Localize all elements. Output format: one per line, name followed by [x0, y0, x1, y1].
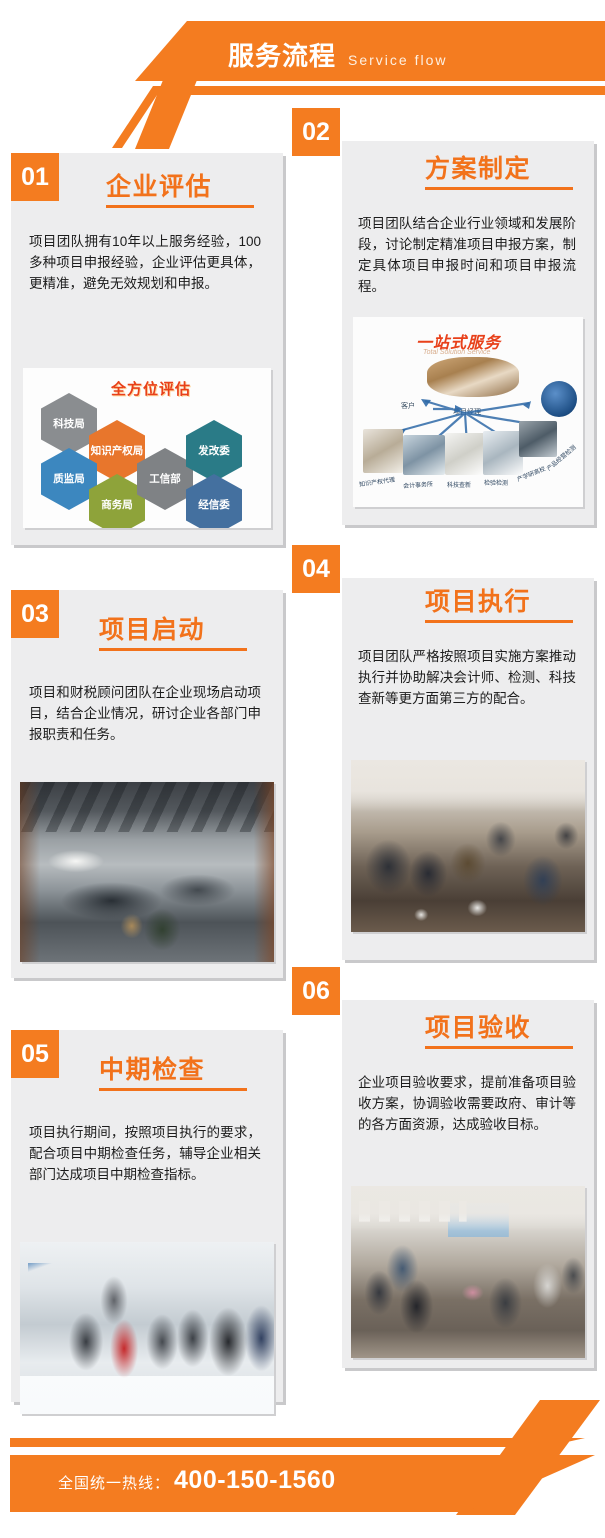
step-description: 项目执行期间，按照项目执行的要求，配合项目中期检查任务，辅导企业相关部门达成项目…: [29, 1122, 261, 1185]
step-title: 方案制定: [425, 149, 531, 185]
photo-showroom-visit: [20, 1242, 274, 1414]
header-stripe: [150, 86, 605, 95]
step-title: 项目启动: [99, 610, 205, 646]
step-title: 项目执行: [425, 582, 531, 618]
title-underline: [425, 620, 573, 623]
service-diagram: 一站式服务 Total Solution Service 客户 项目经理: [353, 317, 583, 507]
hex-node-gongxin: 工信部: [137, 448, 193, 510]
step-card-04: 04 项目执行 项目团队严格按照项目实施方案推动执行并协助解决会计师、检测、科技…: [342, 578, 594, 960]
hotline-label: 全国统一热线：: [58, 1472, 170, 1493]
diagram-thumb-office: [403, 435, 445, 475]
hex-node-zhishi: 知识产权局: [89, 420, 145, 482]
step-description: 项目和财税顾问团队在企业现场启动项目，结合企业情况，研讨企业各部门申报职责和任务…: [29, 682, 261, 745]
hexagon-infographic: 全方位评估 科技局 知识产权局 质监局 商务局 工信部 发改委 经信委: [23, 368, 271, 528]
step-card-02: 02 方案制定 项目团队结合企业行业领域和发展阶段，讨论制定精准项目申报方案，制…: [342, 141, 594, 525]
hex-node-keji: 科技局: [41, 393, 97, 455]
diagram-thumb-lab: [483, 431, 523, 475]
step-card-05: 05 中期检查 项目执行期间，按照项目执行的要求，配合项目中期检查任务，辅导企业…: [11, 1030, 283, 1402]
diagram-thumb-docs: [445, 433, 485, 475]
title-underline: [425, 1046, 573, 1049]
step-card-06: 06 项目验收 企业项目验收要求，提前准备项目验收方案，协调验收需要政府、审计等…: [342, 1000, 594, 1368]
hex-node-jingxin: 经信委: [186, 474, 242, 528]
photo-meeting-room: [20, 782, 274, 962]
diagram-thumb-meeting: [519, 421, 557, 457]
step-title: 项目验收: [425, 1008, 531, 1044]
header-title-group: 服务流程 Service flow: [228, 36, 447, 73]
step-number-badge: 03: [11, 590, 59, 638]
diagram-label-tech-search: 科技查新: [447, 480, 471, 489]
step-description: 项目团队拥有10年以上服务经验，100多种项目申报经验，企业评估更具体，更精准，…: [29, 231, 261, 294]
page-title: 服务流程: [228, 36, 336, 73]
photo-conference-laptops: [351, 760, 585, 932]
diagram-seal-icon: [541, 381, 577, 417]
hex-node-zhijian: 质监局: [41, 448, 97, 510]
step-title: 中期检查: [99, 1050, 205, 1086]
service-flow-infographic: 服务流程 Service flow 01 企业评估 项目团队拥有10年以上服务经…: [0, 0, 605, 1538]
step-card-01: 01 企业评估 项目团队拥有10年以上服务经验，100多种项目申报经验，企业评估…: [11, 153, 283, 545]
page-subtitle: Service flow: [348, 52, 447, 68]
step-number-badge: 05: [11, 1030, 59, 1078]
diagram-thumb-books: [363, 429, 403, 473]
step-number-badge: 02: [292, 108, 340, 156]
step-number-badge: 04: [292, 545, 340, 593]
hex-node-shangwu: 商务局: [89, 474, 145, 528]
title-underline: [425, 187, 573, 190]
step-title: 企业评估: [106, 167, 212, 203]
step-description: 企业项目验收要求，提前准备项目验收方案，协调验收需要政府、审计等的各方面资源，达…: [358, 1072, 576, 1135]
diagram-label-inspection: 检验检测: [484, 478, 508, 487]
hex-node-fagai: 发改委: [186, 420, 242, 482]
footer-hotline-group: 全国统一热线： 400-150-1560: [58, 1466, 336, 1495]
title-underline: [99, 1088, 247, 1091]
title-underline: [99, 648, 247, 651]
step-card-03: 03 项目启动 项目和财税顾问团队在企业现场启动项目，结合企业情况，研讨企业各部…: [11, 590, 283, 978]
title-underline: [106, 205, 254, 208]
infographic-title: 全方位评估: [111, 378, 191, 399]
step-description: 项目团队严格按照项目实施方案推动执行并协助解决会计师、检测、科技查新等更方面第三…: [358, 646, 576, 709]
photo-acceptance-meeting: [351, 1186, 585, 1358]
hotline-number[interactable]: 400-150-1560: [174, 1466, 336, 1495]
step-number-badge: 06: [292, 967, 340, 1015]
step-number-badge: 01: [11, 153, 59, 201]
footer-stripe: [10, 1438, 585, 1447]
step-description: 项目团队结合企业行业领域和发展阶段，讨论制定精准项目申报方案，制定具体项目申报时…: [358, 213, 576, 297]
